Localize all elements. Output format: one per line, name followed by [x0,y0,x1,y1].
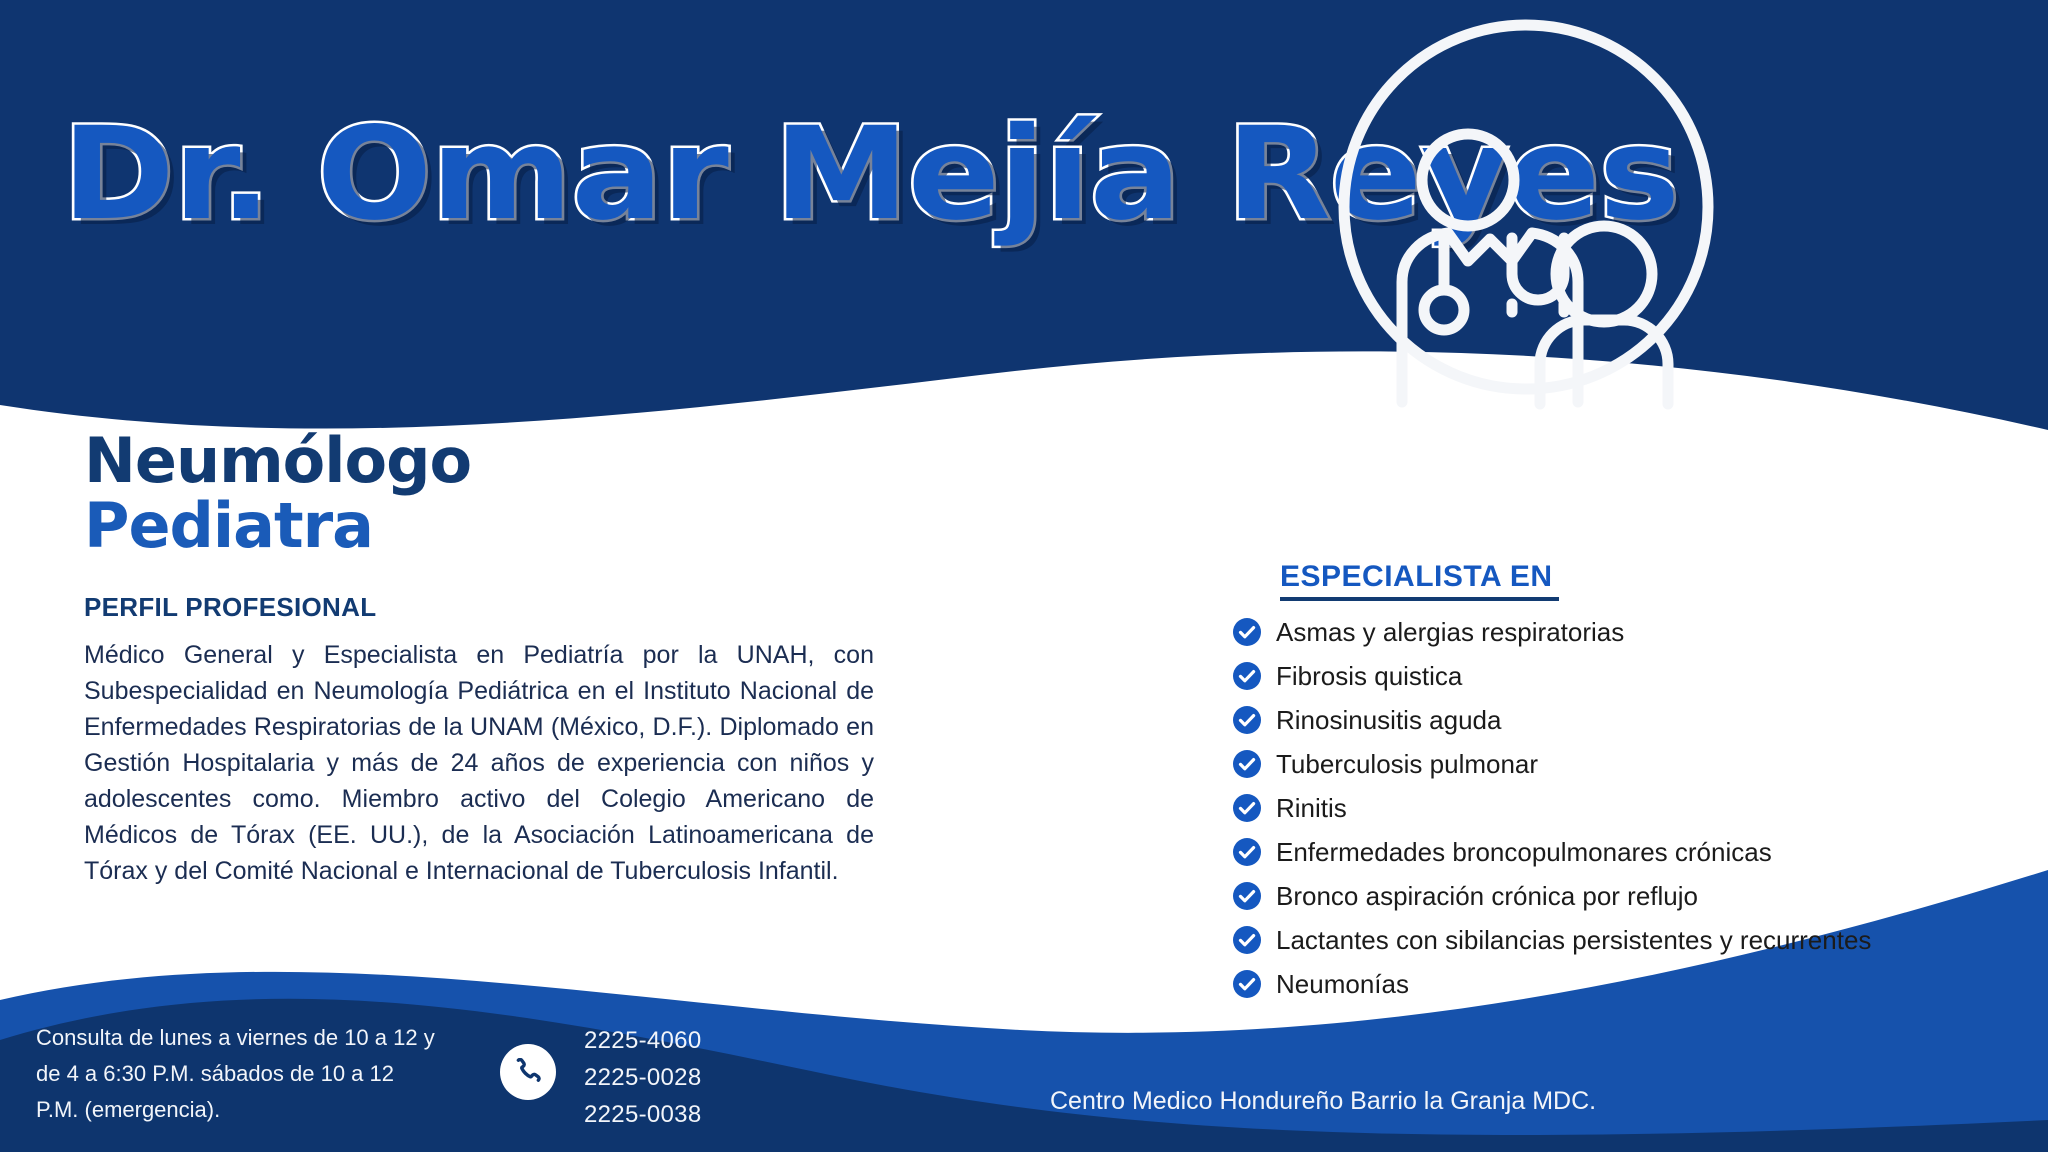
specialties-heading-row: ESPECIALISTA EN [1232,560,1992,601]
check-circle-icon [1232,793,1262,823]
list-item: Enfermedades broncopulmonares crónicas [1232,835,1992,868]
check-circle-icon [1232,661,1262,691]
profile-heading: PERFIL PROFESIONAL [84,592,874,623]
header-title-block: Dr. Omar Mejía Reyes [62,100,1332,260]
specialty-line-2: Pediatra [84,492,874,560]
check-circle-icon [1232,705,1262,735]
clinic-address: Centro Medico Hondureño Barrio la Granja… [1050,1087,1596,1116]
phone-number[interactable]: 2225-4060 [584,1022,701,1059]
profile-body-text: Médico General y Especialista en Pediatr… [84,637,874,889]
stethoscope-bell [1424,290,1464,330]
specialties-list: Asmas y alergias respiratorias Fibrosis … [1232,615,1992,1000]
list-item-label: Asmas y alergias respiratorias [1276,617,1624,647]
list-item: Rinitis [1232,791,1992,824]
list-item: Neumonías [1232,967,1992,1000]
list-item-label: Rinitis [1276,793,1347,823]
phone-icon[interactable] [500,1044,556,1100]
check-circle-icon [1232,617,1262,647]
specialties-heading: ESPECIALISTA EN [1280,560,1559,601]
child-head [1556,226,1652,322]
profile-column: Neumólogo Pediatra PERFIL PROFESIONAL Mé… [84,430,874,889]
list-item-label: Bronco aspiración crónica por reflujo [1276,881,1698,911]
list-item: Tuberculosis pulmonar [1232,747,1992,780]
doctor-and-child-icon [1316,12,1736,412]
phone-number[interactable]: 2225-0038 [584,1096,701,1133]
specialty-line-1: Neumólogo [84,430,874,492]
list-item: Asmas y alergias respiratorias [1232,615,1992,648]
medical-advertisement-banner: Dr. Omar Mejía Reyes Neumólogo Pediatra … [0,0,2048,1152]
list-item-label: Lactantes con sibilancias persistentes y… [1276,925,1871,955]
list-item-label: Rinosinusitis aguda [1276,705,1501,735]
list-item: Lactantes con sibilancias persistentes y… [1232,923,1992,956]
phone-number-list: 2225-4060 2225-0028 2225-0038 [584,1022,701,1133]
list-item: Fibrosis quistica [1232,659,1992,692]
page-title: Dr. Omar Mejía Reyes [62,100,1408,250]
check-circle-icon [1232,925,1262,955]
check-circle-icon [1232,881,1262,911]
doctor-head [1422,134,1514,226]
check-circle-icon [1232,749,1262,779]
list-item-label: Fibrosis quistica [1276,661,1462,691]
list-item-label: Enfermedades broncopulmonares crónicas [1276,837,1772,867]
check-circle-icon [1232,969,1262,999]
specialties-column: ESPECIALISTA EN Asmas y alergias respira… [1232,560,1992,1011]
list-item: Rinosinusitis aguda [1232,703,1992,736]
list-item-label: Neumonías [1276,969,1409,999]
check-circle-icon [1232,837,1262,867]
consultation-schedule: Consulta de lunes a viernes de 10 a 12 y… [36,1020,436,1128]
phone-contact-group: 2225-4060 2225-0028 2225-0038 [500,1022,701,1133]
list-item-label: Tuberculosis pulmonar [1276,749,1538,779]
list-item: Bronco aspiración crónica por reflujo [1232,879,1992,912]
phone-number[interactable]: 2225-0028 [584,1059,701,1096]
